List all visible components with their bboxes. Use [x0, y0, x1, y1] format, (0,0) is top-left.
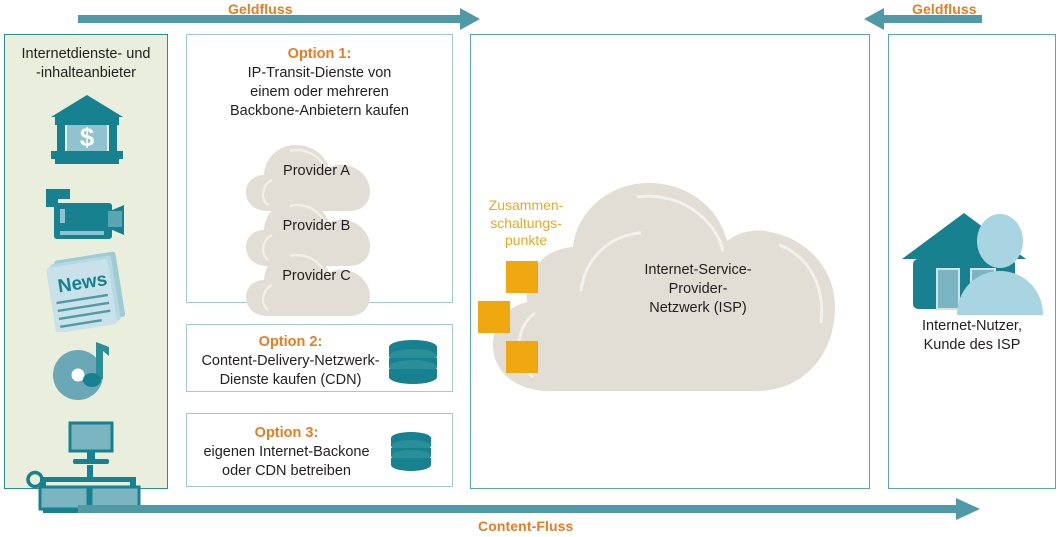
provider-cloud-a-label: Provider A	[244, 163, 389, 179]
isp-cloud-label-line1: Internet-Service-	[583, 261, 813, 280]
music-disc-icon	[51, 339, 123, 406]
money-flow-left-arrow	[78, 8, 480, 30]
end-user-caption-line1: Internet-Nutzer,	[889, 317, 1055, 336]
diagram-canvas: Geldfluss Geldfluss Internetdienste- und…	[0, 0, 1060, 537]
isp-cloud-label-line2: Provider-	[583, 280, 813, 299]
option-2-heading: Option 2: Content-Delivery-Netzwerk- Die…	[187, 333, 394, 390]
option-2-body-line1: Content-Delivery-Netzwerk-	[187, 352, 394, 371]
end-user-panel: Internet-Nutzer, Kunde des ISP	[888, 34, 1056, 489]
interconnection-point-2	[478, 301, 510, 333]
interconnection-points-label-line1: Zusammen-	[471, 197, 581, 215]
end-user-caption: Internet-Nutzer, Kunde des ISP	[889, 317, 1055, 355]
provider-cloud-c-label: Provider C	[244, 268, 389, 284]
option-3-panel: Option 3: eigenen Internet-Backone oder …	[186, 413, 453, 487]
interconnection-points-label-line3: punkte	[471, 232, 581, 250]
database-stack-icon	[387, 339, 439, 390]
content-providers-panel: Internetdienste- und -inhalteanbieter $	[4, 34, 168, 489]
isp-cloud-label: Internet-Service- Provider- Netzwerk (IS…	[583, 261, 813, 318]
interconnection-points-label-line2: schaltungs-	[471, 215, 581, 233]
option-2-body-line2: Dienste kaufen (CDN)	[187, 371, 394, 390]
database-stack-icon	[389, 431, 433, 478]
option-3-heading: Option 3: eigenen Internet-Backone oder …	[187, 424, 386, 481]
option-2-panel: Option 2: Content-Delivery-Netzwerk- Die…	[186, 324, 453, 392]
provider-cloud-b-label: Provider B	[244, 218, 389, 234]
money-flow-right-arrow	[864, 8, 982, 30]
provider-cloud-c: Provider C	[244, 240, 389, 320]
option-3-body-line2: oder CDN betreiben	[187, 462, 386, 481]
content-flow-label: Content-Fluss	[478, 518, 573, 534]
bank-icon: $	[49, 93, 125, 170]
content-providers-title-line2: -inhalteanbieter	[5, 64, 167, 83]
option-1-body-line2: einem oder mehreren	[187, 83, 452, 102]
svg-text:$: $	[80, 122, 95, 152]
interconnection-points-label: Zusammen- schaltungs- punkte	[471, 197, 581, 250]
content-flow-arrow	[78, 498, 980, 520]
video-camera-icon	[44, 187, 128, 248]
user-household-icon	[901, 207, 1049, 322]
news-icon: News	[45, 250, 131, 337]
option-1-body-line1: IP-Transit-Dienste von	[187, 64, 452, 83]
interconnection-point-1	[506, 261, 538, 293]
option-1-body-line3: Backbone-Anbietern kaufen	[187, 102, 452, 121]
option-1-panel: Option 1: IP-Transit-Dienste von einem o…	[186, 34, 453, 303]
option-2-head: Option 2:	[187, 333, 394, 352]
option-3-body-line1: eigenen Internet-Backone	[187, 443, 386, 462]
end-user-caption-line2: Kunde des ISP	[889, 336, 1055, 355]
option-3-head: Option 3:	[187, 424, 386, 443]
isp-network-panel: Internet-Service- Provider- Netzwerk (IS…	[470, 34, 870, 489]
content-providers-title: Internetdienste- und -inhalteanbieter	[5, 45, 167, 83]
option-1-heading: Option 1: IP-Transit-Dienste von einem o…	[187, 45, 452, 121]
isp-cloud-label-line3: Netzwerk (ISP)	[583, 299, 813, 318]
interconnection-point-3	[506, 341, 538, 373]
option-1-head: Option 1:	[187, 45, 452, 64]
content-providers-title-line1: Internetdienste- und	[5, 45, 167, 64]
